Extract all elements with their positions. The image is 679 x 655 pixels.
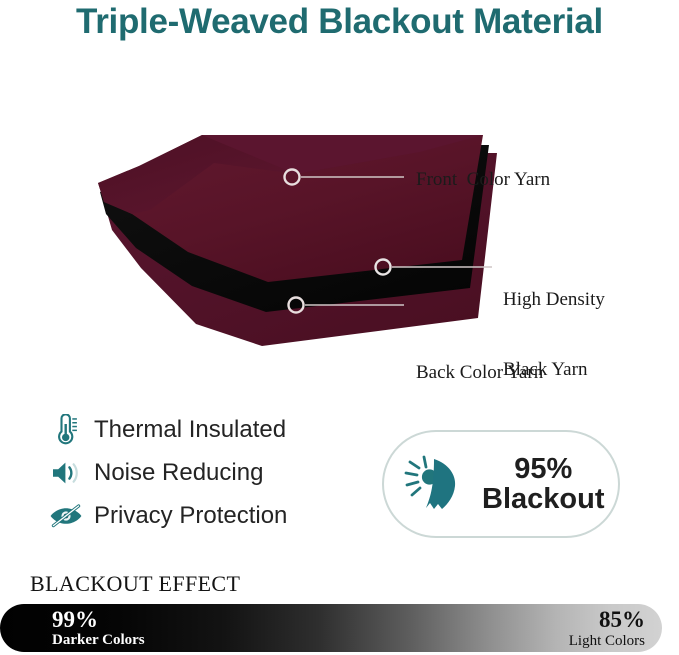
- feature-row-noise-reducing: Noise Reducing: [48, 451, 378, 494]
- darker-colors-caption: Darker Colors: [52, 633, 145, 648]
- feature-list: Thermal Insulated Noise Reducing Privacy…: [48, 408, 378, 537]
- darker-colors-percent: 99%: [52, 608, 145, 631]
- blackout-effect-right-stat: 85% Light Colors: [569, 606, 645, 649]
- blackout-percent: 95%: [482, 454, 604, 484]
- sun-blocked-by-curtain-icon: [402, 449, 476, 519]
- light-colors-percent: 85%: [569, 608, 645, 631]
- blackout-effect-heading: BLACKOUT EFFECT: [30, 571, 240, 597]
- callout-label-high-density-black-yarn: High Density Black Yarn: [503, 242, 605, 427]
- triple-layer-fabric-diagram: Front Color Yarn High Density Black Yarn…: [0, 62, 679, 362]
- blackout-effect-left-stat: 99% Darker Colors: [52, 606, 145, 648]
- blackout-percentage-badge: 95% Blackout: [382, 430, 620, 538]
- callout-line-1: High Density: [503, 288, 605, 311]
- thermometer-icon: [48, 413, 84, 447]
- blackout-badge-text: 95% Blackout: [482, 454, 604, 515]
- blackout-word: Blackout: [482, 484, 604, 514]
- feature-row-thermal-insulated: Thermal Insulated: [48, 408, 378, 451]
- feature-label-thermal-insulated: Thermal Insulated: [94, 416, 286, 444]
- eye-slash-icon: [48, 499, 84, 533]
- callout-label-back-color-yarn: Back Color Yarn: [416, 361, 543, 384]
- speaker-sound-icon: [48, 456, 84, 490]
- light-colors-caption: Light Colors: [569, 634, 645, 649]
- feature-label-noise-reducing: Noise Reducing: [94, 459, 263, 487]
- page-title: Triple-Weaved Blackout Material: [0, 2, 679, 42]
- feature-row-privacy-protection: Privacy Protection: [48, 494, 378, 537]
- feature-label-privacy-protection: Privacy Protection: [94, 502, 287, 530]
- callout-label-front-color-yarn: Front Color Yarn: [416, 168, 550, 191]
